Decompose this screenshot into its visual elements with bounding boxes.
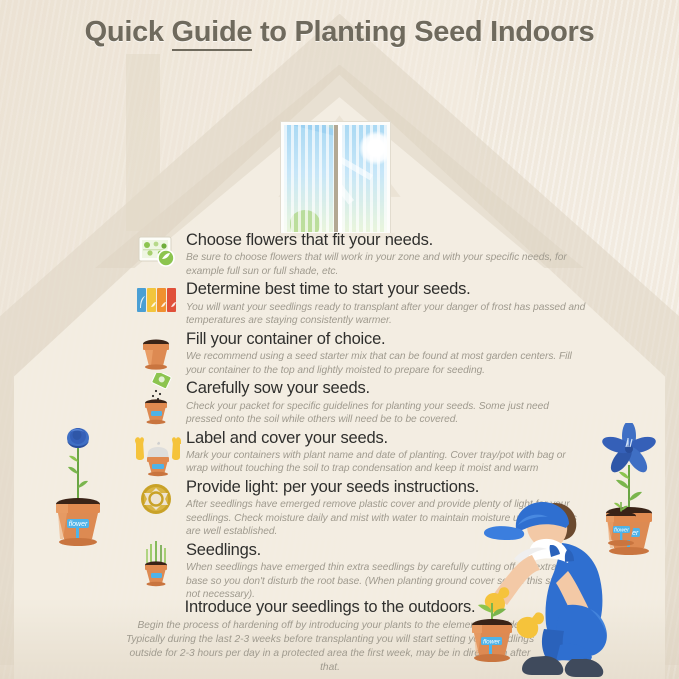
title-part-after: to Planting Seed Indoors [252, 16, 594, 48]
window-pane-right [342, 125, 387, 232]
step-item: Label and cover your seeds. Mark your co… [134, 429, 586, 476]
step-heading: Determine best time to start your seeds. [186, 280, 586, 299]
seed-packets-icon [134, 282, 182, 324]
blue-rose-potted-plant: flower [47, 414, 109, 548]
step-heading: Fill your container of choice. [186, 330, 586, 349]
window-pane-left [284, 125, 338, 232]
step-item: Choose flowers that fit your needs. Be s… [134, 231, 586, 278]
page-title: Quick Guide to Planting Seed Indoors [0, 16, 679, 49]
title-part-before: Quick [85, 16, 172, 48]
step-body: Check your packet for specific guideline… [186, 400, 586, 427]
step-body: Mark your containers with plant name and… [186, 449, 586, 476]
step-body: You will want your seedlings ready to tr… [186, 301, 586, 328]
chimney-shape [126, 54, 160, 231]
step-heading: Label and cover your seeds. [186, 429, 586, 448]
sunny-window-illustration [281, 122, 390, 235]
step-heading: Choose flowers that fit your needs. [186, 231, 586, 250]
filled-pot-icon [134, 332, 182, 374]
step-heading: Carefully sow your seeds. [186, 379, 586, 398]
window-blinds [342, 125, 387, 232]
sun-light-icon [134, 480, 182, 522]
step-body: We recommend using a seed starter mix th… [186, 350, 586, 377]
step-item: Fill your container of choice. We recomm… [134, 330, 586, 377]
step-body: Be sure to choose flowers that will work… [186, 251, 586, 278]
svg-text:flower: flower [483, 639, 501, 646]
seed-catalog-icon [134, 233, 182, 275]
gloves-cover-icon [130, 431, 186, 477]
step-heading: Provide light: per your seeds instructio… [186, 478, 586, 497]
step-item: Determine best time to start your seeds.… [134, 280, 586, 327]
gardener-planting-seedling-illustration: flower [440, 497, 650, 679]
svg-text:flower: flower [69, 521, 88, 528]
window-blinds [284, 125, 334, 232]
seedlings-pot-icon [134, 533, 182, 589]
title-part-underlined: Guide [172, 16, 253, 51]
step-item: Carefully sow your seeds. Check your pac… [134, 379, 586, 426]
sowing-seeds-icon [134, 373, 182, 425]
